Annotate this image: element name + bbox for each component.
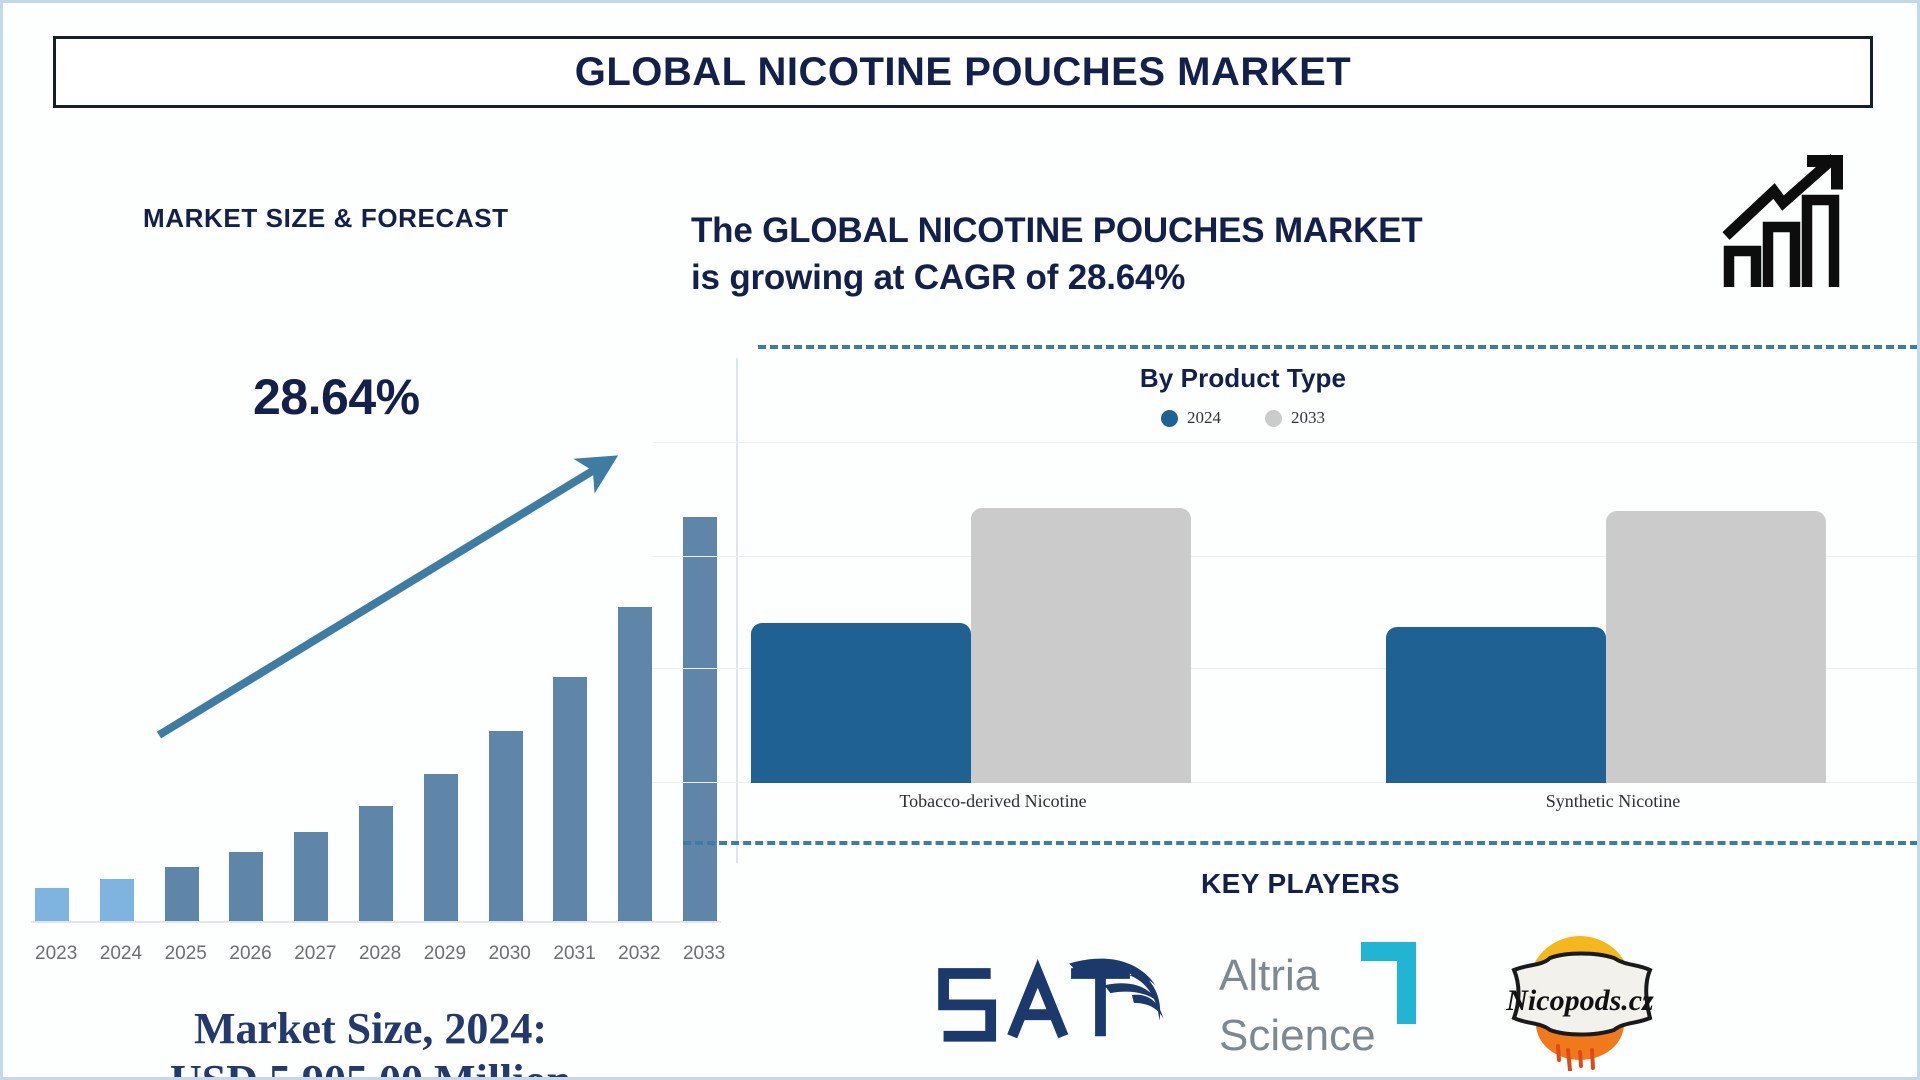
cagr-headline-line-1: The GLOBAL NICOTINE POUCHES MARKET	[691, 208, 1681, 255]
market-size-value: USD 5,905.00 Million	[3, 1055, 738, 1080]
infographic-root: GLOBAL NICOTINE POUCHES MARKET MARKET SI…	[0, 0, 1920, 1080]
product-type-legend: 20242033	[683, 408, 1803, 428]
forecast-year-label-2023: 2023	[35, 943, 69, 965]
forecast-bar-2023	[35, 888, 69, 921]
market-size-forecast-panel: MARKET SIZE & FORECAST 28.64% 2023202420…	[3, 123, 738, 1073]
svg-text:Science: Science	[1219, 1011, 1376, 1060]
forecast-year-label-2025: 2025	[165, 943, 199, 965]
category-label-1: Tobacco-derived Nicotine	[695, 791, 1290, 812]
product-type-category-labels: Tobacco-derived NicotineSynthetic Nicoti…	[683, 791, 1920, 812]
page-title: GLOBAL NICOTINE POUCHES MARKET	[575, 50, 1352, 95]
divider-dashed-top	[758, 345, 1918, 349]
key-players-logos: Altria Science Nicopods.cz	[683, 923, 1918, 1073]
legend-swatch-2024	[1161, 410, 1178, 427]
forecast-year-label-2026: 2026	[229, 943, 263, 965]
cagr-headline: The GLOBAL NICOTINE POUCHES MARKET is gr…	[691, 208, 1681, 301]
key-players-title: KEY PLAYERS	[683, 868, 1918, 900]
section-label-market-size-forecast: MARKET SIZE & FORECAST	[143, 203, 509, 234]
product-type-bar-chart	[653, 443, 1920, 783]
chart-baseline	[31, 921, 721, 923]
bar-group-1	[666, 443, 1276, 783]
forecast-bar-2030	[489, 731, 523, 921]
legend-item-2033[interactable]: 2033	[1265, 408, 1325, 428]
altria-science-logo: Altria Science	[1211, 928, 1446, 1068]
cagr-value-large: 28.64%	[253, 368, 420, 426]
forecast-year-label-2024: 2024	[100, 943, 134, 965]
forecast-year-label-2032: 2032	[618, 943, 652, 965]
forecast-year-label-2028: 2028	[359, 943, 393, 965]
forecast-year-labels: 2023202420252026202720282029203020312032…	[31, 943, 721, 965]
forecast-year-label-2030: 2030	[489, 943, 523, 965]
bar-2033-group-1	[971, 508, 1191, 783]
svg-text:Altria: Altria	[1219, 951, 1320, 1000]
growth-bar-chart-arrow-icon	[1711, 143, 1861, 293]
market-forecast-bar-chart: 2023202420252026202720282029203020312032…	[23, 473, 723, 983]
bar-2033-group-2	[1606, 511, 1826, 783]
forecast-bar-2028	[359, 806, 393, 921]
svg-text:Nicopods.cz: Nicopods.cz	[1505, 984, 1654, 1017]
forecast-bar-2032	[618, 607, 652, 922]
legend-swatch-2033	[1265, 410, 1282, 427]
forecast-year-label-2029: 2029	[424, 943, 458, 965]
market-overview-panel: The GLOBAL NICOTINE POUCHES MARKET is gr…	[683, 123, 1920, 1080]
forecast-bar-2031	[553, 677, 587, 921]
legend-label-2033: 2033	[1291, 408, 1325, 428]
by-product-type-title: By Product Type	[683, 363, 1803, 394]
market-size-2024-block: Market Size, 2024: USD 5,905.00 Million	[3, 1003, 738, 1080]
forecast-bar-2024	[100, 879, 134, 921]
forecast-bar-2027	[294, 832, 328, 921]
legend-label-2024: 2024	[1187, 408, 1221, 428]
forecast-bar-2025	[165, 867, 199, 921]
bat-logo	[922, 933, 1177, 1063]
bar-2024-group-1	[751, 623, 971, 783]
forecast-year-label-2031: 2031	[553, 943, 587, 965]
title-box: GLOBAL NICOTINE POUCHES MARKET	[53, 36, 1873, 108]
market-size-label: Market Size, 2024:	[3, 1003, 738, 1055]
forecast-bars-container	[31, 496, 721, 921]
forecast-bar-2029	[424, 774, 458, 921]
bar-2024-group-2	[1386, 627, 1606, 783]
legend-item-2024[interactable]: 2024	[1161, 408, 1221, 428]
product-type-bars-container	[653, 443, 1920, 783]
bar-group-2	[1301, 443, 1911, 783]
forecast-year-label-2027: 2027	[294, 943, 328, 965]
forecast-bar-2026	[229, 852, 263, 921]
cagr-headline-line-2: is growing at CAGR of 28.64%	[691, 255, 1681, 302]
nicopods-logo: Nicopods.cz	[1480, 926, 1680, 1071]
category-label-2: Synthetic Nicotine	[1315, 791, 1910, 812]
divider-dashed-mid	[683, 841, 1918, 845]
